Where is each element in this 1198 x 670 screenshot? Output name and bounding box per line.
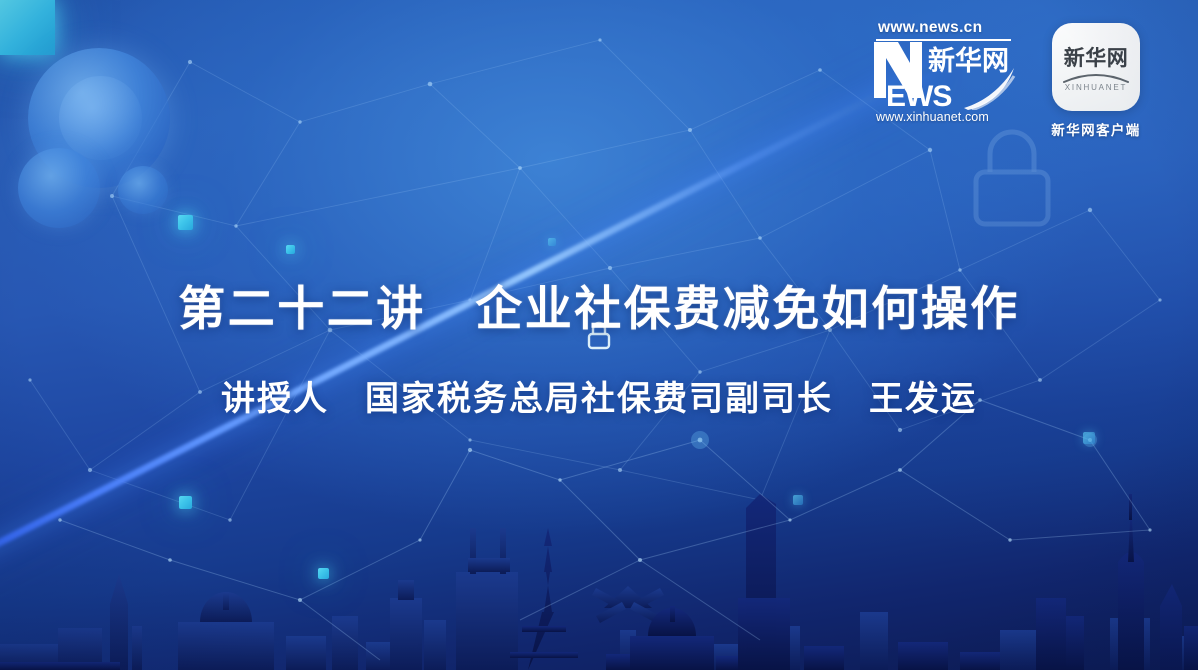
title-card-stage: www.news.cn 新华网 EWS www.xinhuanet.com [0,0,1198,670]
logo-area: www.news.cn 新华网 EWS www.xinhuanet.com [872,18,1184,144]
title-block: 第二十二讲 企业社保费减免如何操作 讲授人 国家税务总局社保费司副司长 王发运 [0,282,1198,420]
network-chip-node-a [178,215,193,230]
molecule-small [118,166,168,214]
app-icon-latin-text: XINHUANET [1052,83,1140,92]
network-chip-node-e [793,495,803,505]
xinhuanet-app-icon[interactable]: 新华网 XINHUANET [1052,23,1140,111]
page-title: 第二十二讲 企业社保费减免如何操作 [0,282,1198,337]
city-skyline-silhouette [0,430,1198,670]
page-subtitle: 讲授人 国家税务总局社保费司副司长 王发运 [0,379,1198,420]
network-chip-node-g [548,238,556,246]
network-chip-node-f [1083,432,1095,444]
svg-text:新华网: 新华网 [928,45,1009,77]
logo-url-bottom: www.xinhuanet.com [876,110,989,124]
molecule-medium [18,148,100,228]
network-chip-node-b [286,245,295,254]
network-chip-node-c [179,496,192,509]
app-icon-chinese-text: 新华网 [1052,42,1140,72]
app-caption: 新华网客户端 [1030,119,1162,139]
logo-url-top: www.news.cn [878,19,982,37]
app-icon-arc [1063,70,1129,83]
svg-text:EWS: EWS [886,80,951,110]
xinhua-news-logo[interactable]: www.news.cn 新华网 EWS www.xinhuanet.com [872,18,1016,134]
network-chip-node-d [318,568,329,579]
xinhuanet-app-logo[interactable]: 新华网 XINHUANET 新华网客户端 [1030,23,1180,143]
lock-chip [0,0,55,55]
news-wordmark: 新华网 EWS [872,40,1016,110]
